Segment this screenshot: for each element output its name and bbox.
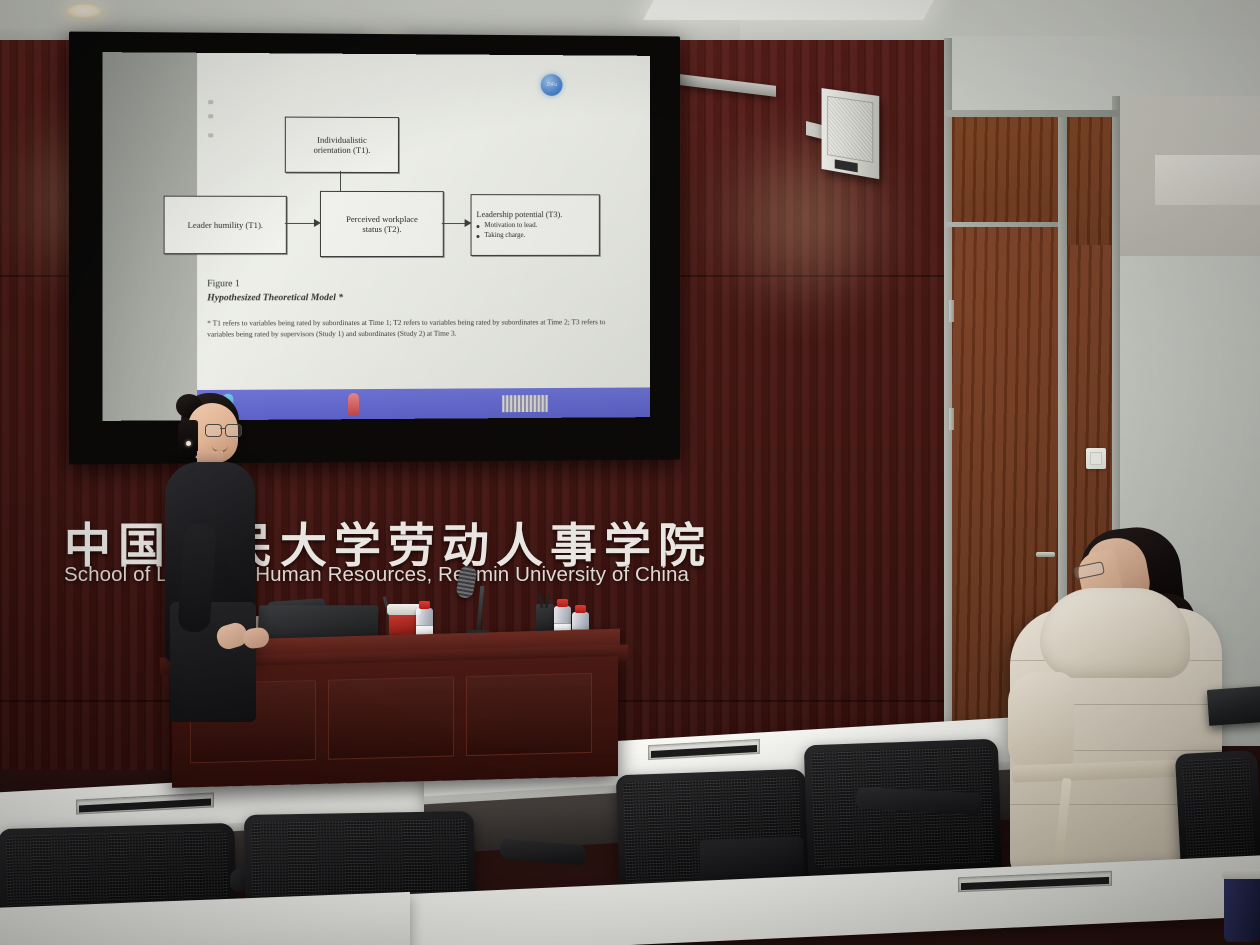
taskbar-icon-person-red[interactable] (348, 393, 359, 415)
door-frame (944, 38, 952, 744)
diagram-box-moderator: Individualistic orientation (T1). (285, 117, 399, 173)
door-transom-panel (1067, 117, 1112, 245)
door-handle-icon[interactable] (1036, 552, 1055, 557)
ceiling-panel-light (643, 0, 937, 20)
door-hinge-icon (949, 300, 954, 322)
outcome-bullet: Motivation to lead. (484, 221, 537, 230)
lectern-panel (328, 676, 454, 759)
outcome-bullet: Taking charge. (484, 231, 537, 240)
lecture-room-photo: ZhFu Individualistic orientation (T1). L… (0, 0, 1260, 945)
lectern-panel (466, 673, 592, 756)
revision-mark (208, 114, 213, 118)
door-frame (944, 110, 1119, 117)
attendee-arm (1008, 672, 1074, 770)
door-transom-panel (952, 117, 1058, 225)
downlight-icon (65, 4, 103, 19)
presenter-glasses-icon (205, 424, 240, 436)
projected-slide: ZhFu Individualistic orientation (T1). L… (103, 52, 650, 421)
light-switch[interactable] (1086, 448, 1106, 469)
glasses-lens-left (205, 424, 222, 437)
presenter-hair-side (178, 420, 198, 460)
taskbar[interactable] (197, 387, 650, 420)
attendee-laptop[interactable] (1207, 686, 1260, 726)
glasses-lens-right (225, 424, 242, 437)
blue-cup (1224, 876, 1260, 942)
attendee-coat-hood (1040, 588, 1190, 678)
diagram-box-predictor-label: Leader humility (T1). (185, 220, 267, 231)
figure-title: Hypothesized Theoretical Model * (207, 292, 343, 303)
revision-mark (208, 100, 213, 104)
wall-sign-english: School of Labor and Human Resources, Ren… (64, 563, 689, 587)
diagram-box-mediator: Perceived workplace status (T2). (320, 191, 444, 257)
outcome-bullet-list: Motivation to lead. Taking charge. (472, 221, 538, 240)
diagram-box-outcome: Leadership potential (T3). Motivation to… (471, 194, 600, 256)
diagram-box-moderator-label: Individualistic orientation (T1). (311, 134, 374, 155)
speaker-grille-icon (827, 96, 873, 163)
taskbar-window-thumbnail[interactable] (502, 395, 547, 412)
diagram-box-mediator-label: Perceived workplace status (T2). (343, 213, 421, 234)
collaborator-avatar: ZhFu (541, 74, 563, 96)
presenter-earring-icon (186, 441, 191, 446)
figure-number: Figure 1 (207, 278, 240, 289)
diagram-box-predictor: Leader humility (T1). (164, 196, 287, 254)
chair-mesh-back (1182, 757, 1255, 866)
figure-footnote: * T1 refers to variables being rated by … (207, 317, 606, 340)
speaker-badge (835, 159, 858, 172)
diagram-box-outcome-label: Leadership potential (T3). (472, 210, 566, 220)
revision-mark (208, 133, 213, 137)
door-hinge-icon (949, 408, 954, 430)
glass-reflection (1155, 155, 1260, 205)
pa-speaker (822, 88, 880, 179)
